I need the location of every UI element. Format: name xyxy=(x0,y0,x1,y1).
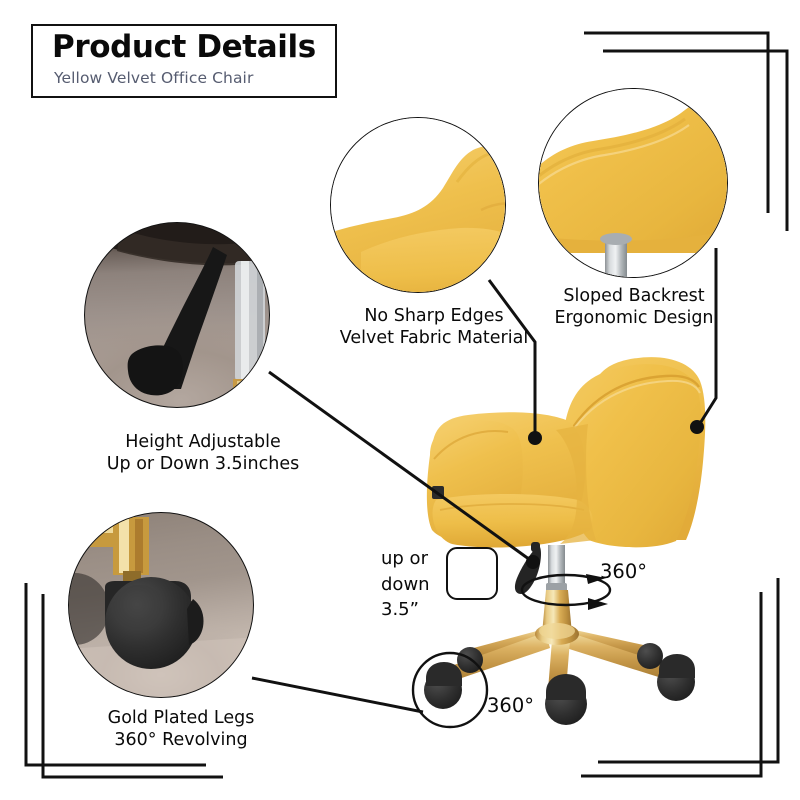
caption-line-2: Ergonomic Design xyxy=(548,307,720,329)
caption-line-2: Velvet Fabric Material xyxy=(336,327,532,349)
height-annotation-text: up or down 3.5” xyxy=(381,546,443,623)
detail-circle-height-adjustable[interactable] xyxy=(84,222,270,408)
caption-line-2: Up or Down 3.5inches xyxy=(92,453,314,475)
caption-no-sharp-edges: No Sharp Edges Velvet Fabric Material xyxy=(336,305,532,350)
infographic-canvas: Product Details Yellow Velvet Office Cha… xyxy=(0,0,800,800)
page-subtitle: Yellow Velvet Office Chair xyxy=(54,69,253,87)
caption-line-1: Sloped Backrest xyxy=(548,285,720,307)
caption-line-2: 360° Revolving xyxy=(75,729,287,751)
title-box: Product Details Yellow Velvet Office Cha… xyxy=(31,24,337,98)
caption-sloped-backrest: Sloped Backrest Ergonomic Design xyxy=(548,285,720,330)
caption-line-1: Height Adjustable xyxy=(92,431,314,453)
swivel-degree-label-bottom: 360° xyxy=(487,694,534,717)
updown-line-1: up or xyxy=(381,546,443,572)
updown-line-2: down xyxy=(381,572,443,598)
page-title: Product Details xyxy=(52,29,316,65)
detail-photo-gas-lift-lever xyxy=(85,223,269,407)
height-arrows-box xyxy=(446,547,498,600)
caption-line-1: No Sharp Edges xyxy=(336,305,532,327)
caption-gold-plated-legs: Gold Plated Legs 360° Revolving xyxy=(75,707,287,752)
detail-circle-no-sharp-edges[interactable] xyxy=(330,117,506,293)
detail-photo-gold-caster xyxy=(69,513,253,697)
detail-photo-backrest-closeup xyxy=(539,89,727,277)
updown-line-3: 3.5” xyxy=(381,597,443,623)
swivel-degree-label-top: 360° xyxy=(600,560,647,583)
detail-photo-seat-closeup xyxy=(331,118,505,292)
detail-circle-sloped-backrest[interactable] xyxy=(538,88,728,278)
detail-circle-gold-plated-legs[interactable] xyxy=(68,512,254,698)
caption-line-1: Gold Plated Legs xyxy=(75,707,287,729)
caption-height-adjustable: Height Adjustable Up or Down 3.5inches xyxy=(92,431,314,476)
